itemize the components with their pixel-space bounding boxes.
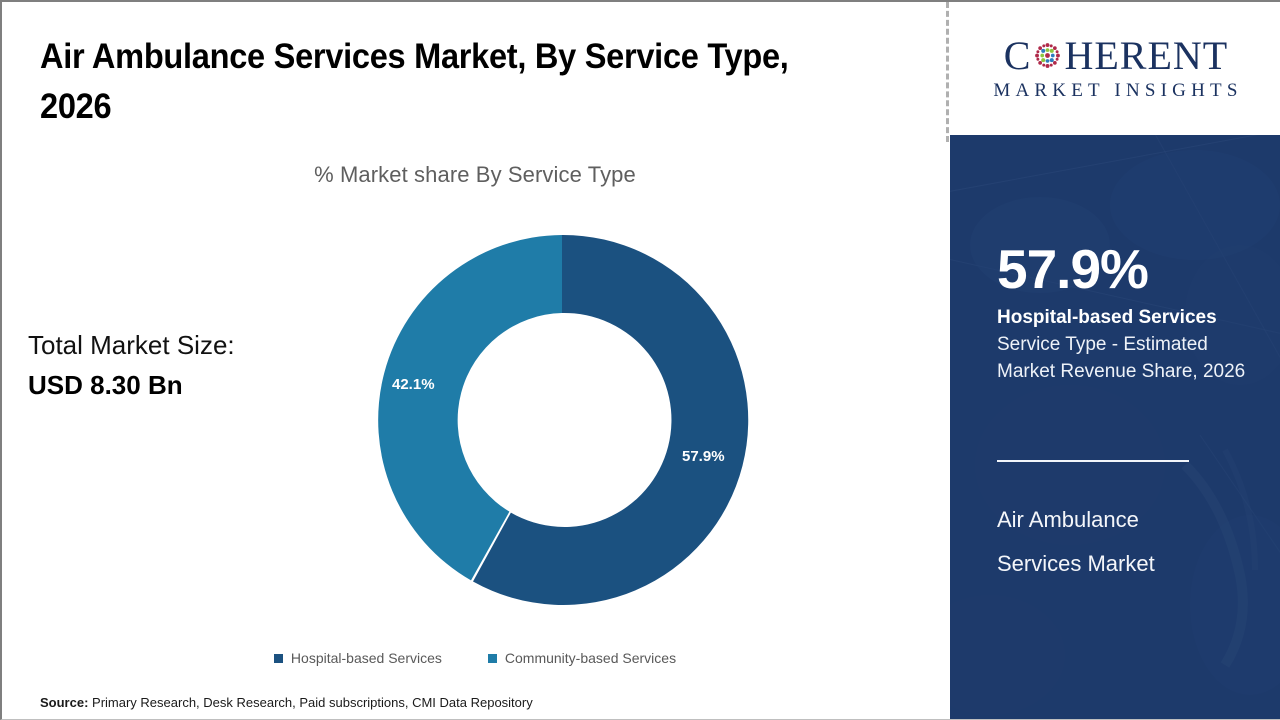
panel-stat-block: 57.9% Hospital-based Services Service Ty…	[997, 240, 1249, 385]
logo-letter-c: C	[1004, 36, 1032, 76]
stat-percentage: 57.9%	[997, 240, 1249, 298]
legend-swatch-icon	[274, 654, 283, 663]
main-content-area: Air Ambulance Services Market, By Servic…	[2, 2, 948, 720]
panel-divider	[997, 460, 1189, 462]
legend-label-community: Community-based Services	[505, 650, 676, 666]
chart-subtitle: % Market share By Service Type	[2, 162, 948, 188]
donut-label-community: 42.1%	[392, 376, 435, 393]
source-label: Source:	[40, 695, 88, 710]
stat-segment-name: Hospital-based Services	[997, 304, 1249, 331]
highlight-panel: 57.9% Hospital-based Services Service Ty…	[950, 135, 1280, 720]
page-title: Air Ambulance Services Market, By Servic…	[40, 32, 858, 132]
legend-item-community[interactable]: Community-based Services	[488, 650, 676, 666]
market-name-line-2: Services Market	[997, 542, 1257, 586]
market-name-line-1: Air Ambulance	[997, 498, 1257, 542]
donut-chart: 57.9% 42.1%	[372, 230, 752, 610]
chart-legend: Hospital-based Services Community-based …	[2, 650, 948, 666]
logo-wordmark: C	[1004, 36, 1228, 76]
brand-logo: C	[950, 2, 1280, 135]
total-market-size: Total Market Size: USD 8.30 Bn	[28, 325, 328, 405]
infographic-root: Air Ambulance Services Market, By Servic…	[0, 0, 1280, 720]
logo-letters-herent: HERENT	[1064, 36, 1228, 76]
globe-dots-icon	[1032, 40, 1063, 71]
source-text: Primary Research, Desk Research, Paid su…	[88, 695, 532, 710]
stat-description: Service Type - Estimated Market Revenue …	[997, 331, 1249, 385]
right-panel: C	[950, 2, 1280, 720]
logo-tagline: MARKET INSIGHTS	[989, 80, 1242, 102]
legend-swatch-icon	[488, 654, 497, 663]
panel-market-name: Air Ambulance Services Market	[997, 498, 1257, 586]
market-size-value: USD 8.30 Bn	[28, 365, 328, 405]
source-note: Source: Primary Research, Desk Research,…	[40, 695, 533, 710]
vertical-dashed-divider	[946, 2, 949, 142]
legend-item-hospital[interactable]: Hospital-based Services	[274, 650, 442, 666]
market-size-label: Total Market Size:	[28, 325, 328, 365]
world-map-texture	[950, 135, 1280, 720]
legend-label-hospital: Hospital-based Services	[291, 650, 442, 666]
donut-label-hospital: 57.9%	[682, 448, 725, 465]
